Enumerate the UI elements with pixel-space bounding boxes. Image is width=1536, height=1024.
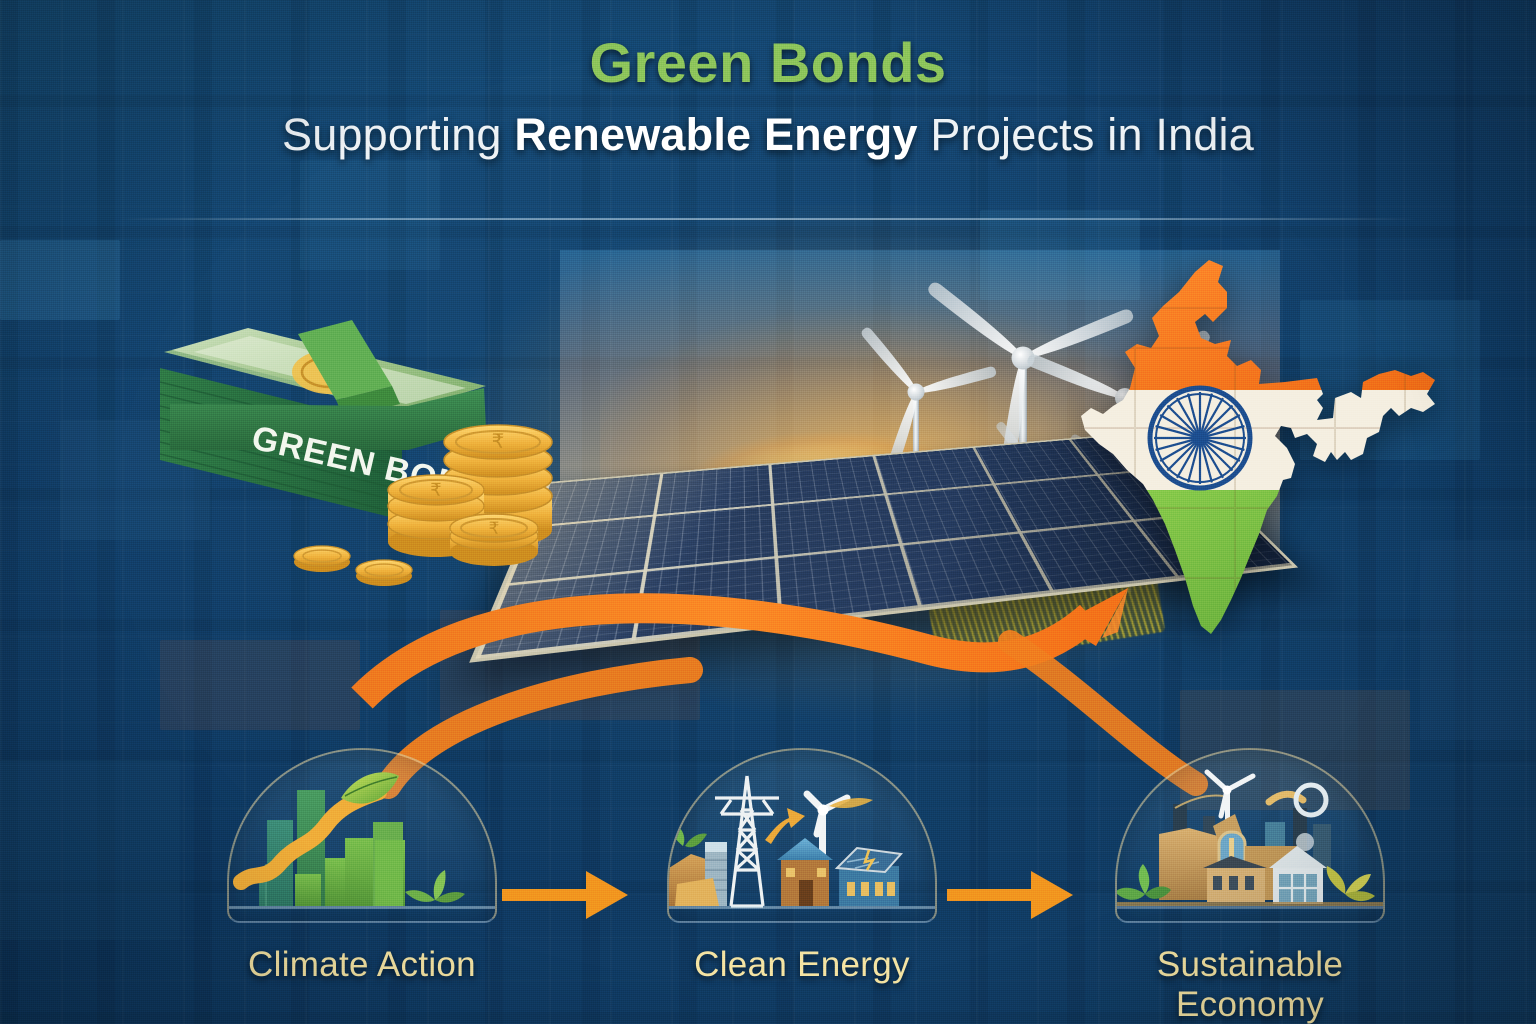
vignette — [0, 0, 1536, 1024]
infographic-canvas: GREEN BOND ₹ ₹ — [0, 0, 1536, 1024]
